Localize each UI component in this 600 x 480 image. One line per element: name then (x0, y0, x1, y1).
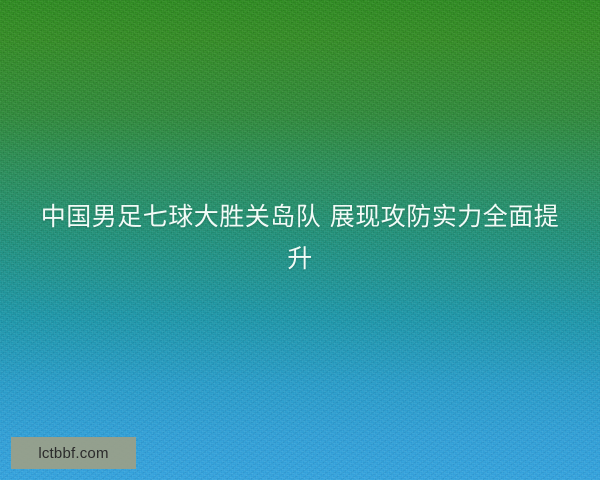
gradient-background (0, 0, 600, 480)
watermark-text: lctbbf.com (38, 446, 108, 461)
poster-image: 中国男足七球大胜关岛队 展现攻防实力全面提升 lctbbf.com (0, 0, 600, 480)
watermark-badge: lctbbf.com (11, 437, 136, 469)
